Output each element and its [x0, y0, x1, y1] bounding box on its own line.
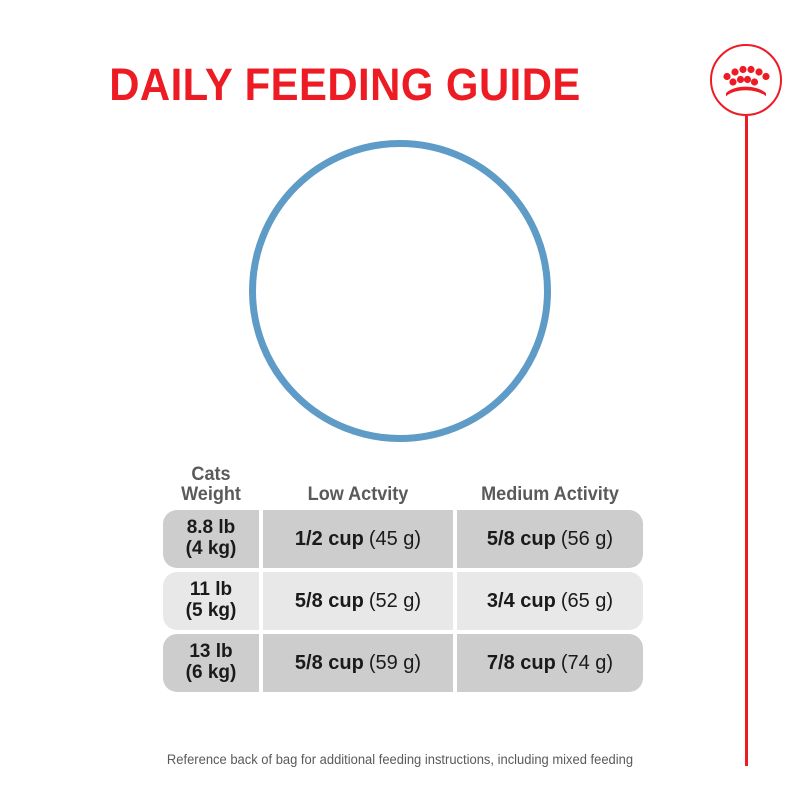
cat-photo	[256, 147, 544, 435]
cell-weight-kg: (5 kg)	[186, 601, 237, 622]
table-row: 8.8 lb (4 kg) 1/2 cup(45 g) 5/8 cup(56 g…	[163, 510, 639, 568]
cell-low-grams: (59 g)	[369, 652, 421, 674]
cell-low-grams: (52 g)	[369, 590, 421, 612]
cell-medium-activity: 3/4 cup(65 g)	[457, 572, 643, 630]
header-cats-weight: Cats Weight	[165, 465, 256, 510]
feeding-guide-page: DAILY FEEDING GUIDE	[0, 0, 800, 800]
header-medium-activity: Medium Activity	[462, 485, 639, 510]
cell-low-activity: 5/8 cup(59 g)	[263, 634, 453, 692]
cell-medium-grams: (74 g)	[561, 652, 613, 674]
page-title: DAILY FEEDING GUIDE	[24, 62, 666, 107]
cell-weight-lb: 8.8 lb	[186, 518, 237, 539]
cell-weight: 11 lb (5 kg)	[163, 572, 259, 630]
feeding-table: Cats Weight Low Actvity Medium Activity …	[163, 452, 639, 696]
cell-medium-amount: 7/8 cup	[487, 652, 556, 674]
cell-medium-amount: 5/8 cup	[487, 528, 556, 550]
cell-low-activity: 1/2 cup(45 g)	[263, 510, 453, 568]
cell-weight: 13 lb (6 kg)	[163, 634, 259, 692]
table-row: 13 lb (6 kg) 5/8 cup(59 g) 7/8 cup(74 g)	[163, 634, 639, 692]
cell-medium-activity: 7/8 cup(74 g)	[457, 634, 643, 692]
cell-medium-grams: (65 g)	[561, 590, 613, 612]
cell-medium-grams: (56 g)	[561, 528, 613, 550]
table-row: 11 lb (5 kg) 5/8 cup(52 g) 3/4 cup(65 g)	[163, 572, 639, 630]
hero-image-container	[249, 140, 551, 442]
header-cats-weight-line2: Weight	[165, 485, 256, 506]
cell-medium-activity: 5/8 cup(56 g)	[457, 510, 643, 568]
cell-weight: 8.8 lb (4 kg)	[163, 510, 259, 568]
table-header-row: Cats Weight Low Actvity Medium Activity	[163, 452, 639, 510]
cell-weight-kg: (6 kg)	[186, 663, 237, 684]
brand-logo	[710, 44, 782, 116]
footnote-text: Reference back of bag for additional fee…	[16, 752, 784, 767]
cell-medium-amount: 3/4 cup	[487, 590, 556, 612]
cell-low-amount: 1/2 cup	[295, 528, 364, 550]
logo-stem-line	[745, 116, 748, 766]
cell-weight-lb: 13 lb	[186, 642, 237, 663]
cell-low-amount: 5/8 cup	[295, 652, 364, 674]
cell-weight-kg: (4 kg)	[186, 539, 237, 560]
cell-low-activity: 5/8 cup(52 g)	[263, 572, 453, 630]
cell-weight-lb: 11 lb	[186, 580, 237, 601]
cell-low-grams: (45 g)	[369, 528, 421, 550]
header-cats-weight-line1: Cats	[165, 465, 256, 486]
crown-icon	[722, 63, 770, 97]
header-low-activity: Low Actvity	[268, 485, 449, 510]
cell-low-amount: 5/8 cup	[295, 590, 364, 612]
